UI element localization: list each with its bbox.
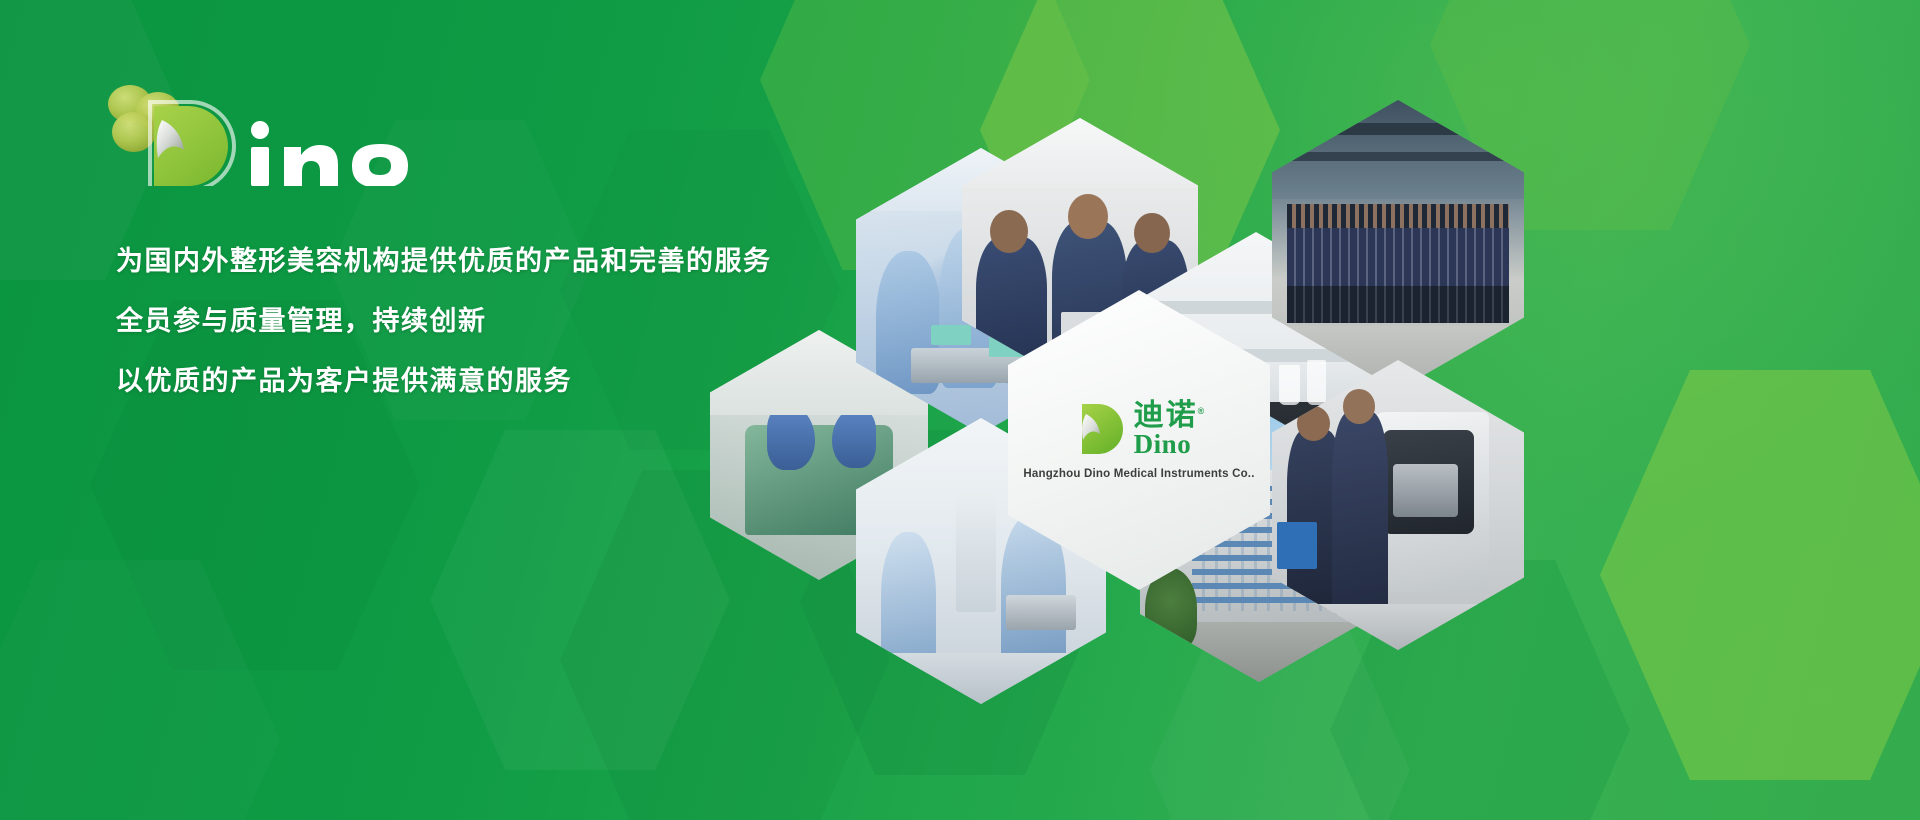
dino-leaf-logo-icon [92, 68, 432, 186]
center-logo-mark: 迪诺® Dino [1072, 400, 1207, 458]
dino-d-icon [1072, 400, 1126, 458]
hero-banner: 为国内外整形美容机构提供优质的产品和完善的服务 全员参与质量管理，持续创新 以优… [0, 0, 1920, 820]
center-logo-en: Dino [1134, 431, 1207, 458]
center-logo-cn: 迪诺® [1134, 401, 1207, 431]
hexagon-photo-cluster: 迪诺® Dino Hangzhou Dino Medical Instrumen… [660, 40, 1920, 800]
logo-wordmark [251, 121, 408, 186]
dino-logo[interactable] [92, 68, 432, 186]
center-company-name: Hangzhou Dino Medical Instruments Co.. [1023, 468, 1254, 480]
registered-mark-icon: ® [1198, 406, 1207, 416]
